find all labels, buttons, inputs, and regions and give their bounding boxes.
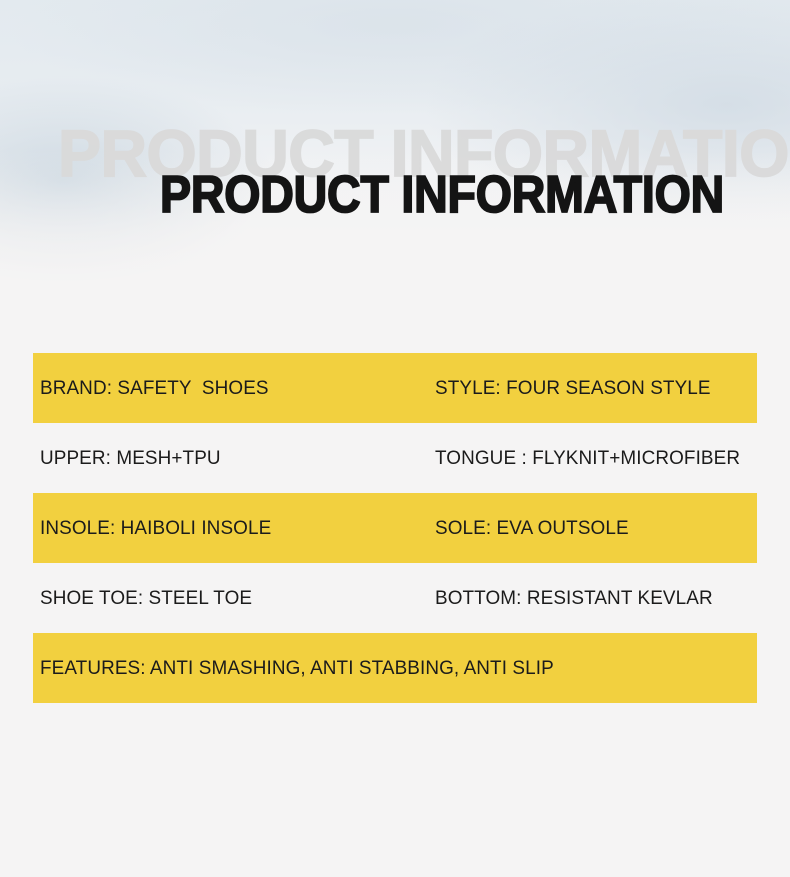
spec-shoe-toe: SHOE TOE: STEEL TOE [40,586,252,610]
page-title: PRODUCT INFORMATION [160,166,724,223]
product-information-page: PRODUCT INFORMATION PRODUCT INFORMATION … [0,0,790,877]
specification-table: BRAND: SAFETY SHOES STYLE: FOUR SEASON S… [33,353,757,703]
table-row: BRAND: SAFETY SHOES STYLE: FOUR SEASON S… [33,353,757,423]
spec-style: STYLE: FOUR SEASON STYLE [435,376,711,400]
table-row: FEATURES: ANTI SMASHING, ANTI STABBING, … [33,633,757,703]
table-row: INSOLE: HAIBOLI INSOLE SOLE: EVA OUTSOLE [33,493,757,563]
spec-upper: UPPER: MESH+TPU [40,446,221,470]
spec-sole: SOLE: EVA OUTSOLE [435,516,629,540]
spec-tongue: TONGUE : FLYKNIT+MICROFIBER [435,446,740,470]
table-row: SHOE TOE: STEEL TOE BOTTOM: RESISTANT KE… [33,563,757,633]
spec-brand: BRAND: SAFETY SHOES [40,376,269,400]
spec-features: FEATURES: ANTI SMASHING, ANTI STABBING, … [40,656,554,680]
page-title-block: PRODUCT INFORMATION PRODUCT INFORMATION [0,0,790,330]
spec-insole: INSOLE: HAIBOLI INSOLE [40,516,271,540]
table-row: UPPER: MESH+TPU TONGUE : FLYKNIT+MICROFI… [33,423,757,493]
spec-bottom: BOTTOM: RESISTANT KEVLAR [435,586,713,610]
